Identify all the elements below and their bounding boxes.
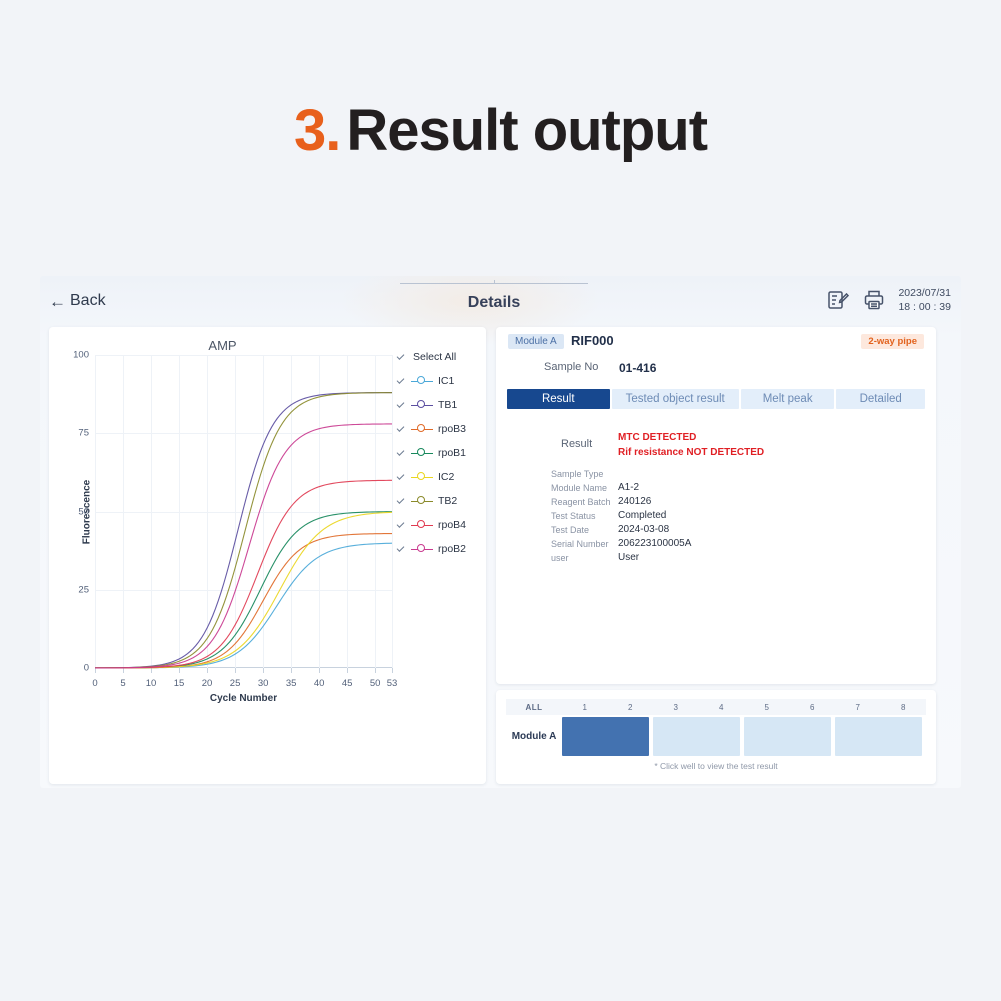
wells-column-header: 1	[562, 703, 608, 712]
gridline-vertical	[392, 355, 393, 668]
wells-column-header: 8	[881, 703, 927, 712]
result-value: MTC DETECTED Rif resistance NOT DETECTED	[618, 430, 764, 460]
tab-details[interactable]: Details	[400, 283, 588, 321]
metadata-row: Test StatusCompleted	[496, 511, 936, 525]
legend-item-rpoB2[interactable]: rpoB2	[397, 537, 483, 561]
legend-marker-icon	[411, 496, 433, 507]
datetime-display: 2023/07/31 18 : 00 : 39	[898, 286, 951, 314]
metadata-value: 2024-03-08	[618, 524, 669, 535]
result-line-2: Rif resistance NOT DETECTED	[618, 445, 764, 460]
checkmark-icon	[397, 521, 406, 530]
metadata-key: Reagent Batch	[551, 497, 611, 507]
x-axis-title: Cycle Number	[95, 693, 392, 704]
x-axis-tick-label: 45	[342, 678, 353, 689]
module-badge: Module A	[508, 334, 564, 349]
x-axis-tick-label: 35	[286, 678, 297, 689]
wells-column-header: 7	[835, 703, 881, 712]
legend-item-label: rpoB4	[438, 519, 466, 531]
checkmark-icon	[397, 545, 406, 554]
result-label: Result	[561, 438, 592, 450]
metadata-value: Completed	[618, 510, 666, 521]
result-line-1: MTC DETECTED	[618, 430, 764, 445]
metadata-key: Sample Type	[551, 469, 603, 479]
result-tab-melt-peak[interactable]: Melt peak	[741, 389, 835, 409]
page-title-number: 3.	[294, 98, 340, 163]
metadata-key: Test Date	[551, 525, 589, 535]
well-3-4[interactable]	[653, 717, 740, 756]
y-axis-tick-label: 25	[78, 584, 89, 595]
legend-marker-icon	[411, 424, 433, 435]
legend-item-label: TB2	[438, 495, 457, 507]
chart-title: AMP	[49, 338, 396, 353]
legend-item-IC1[interactable]: IC1	[397, 369, 483, 393]
legend-item-label: rpoB1	[438, 447, 466, 459]
legend-marker-icon	[411, 544, 433, 555]
well-7-8[interactable]	[835, 717, 922, 756]
result-tab-result[interactable]: Result	[507, 389, 610, 409]
metadata-value: 240126	[618, 496, 651, 507]
app-topbar: ← Back Details	[40, 276, 961, 325]
metadata-row: Serial Number206223100005A	[496, 539, 936, 553]
x-axis-tick-label: 25	[230, 678, 241, 689]
legend-item-label: IC2	[438, 471, 454, 483]
pipe-badge: 2-way pipe	[861, 334, 924, 349]
wells-all-label: ALL	[506, 703, 562, 712]
legend-item-rpoB1[interactable]: rpoB1	[397, 441, 483, 465]
edit-note-icon[interactable]	[826, 288, 850, 312]
wells-row-label: Module A	[506, 731, 562, 742]
amp-curve-IC1	[95, 543, 392, 668]
chart-legend: Select All IC1TB1rpoB3rpoB1IC2TB2rpoB4rp…	[397, 345, 483, 561]
metadata-key: Test Status	[551, 511, 596, 521]
date-text: 2023/07/31	[898, 286, 951, 300]
amp-curve-rpoB2	[95, 424, 392, 668]
metadata-value: 206223100005A	[618, 538, 691, 549]
x-axis-tick-label: 5	[120, 678, 125, 689]
x-axis-tick-label: 20	[202, 678, 213, 689]
metadata-key: Serial Number	[551, 539, 609, 549]
checkmark-icon	[397, 449, 406, 458]
legend-item-rpoB4[interactable]: rpoB4	[397, 513, 483, 537]
metadata-value: A1-2	[618, 482, 639, 493]
checkmark-icon	[397, 401, 406, 410]
back-arrow-icon: ←	[49, 293, 66, 310]
tab-underline	[400, 283, 588, 284]
wells-column-header: 3	[653, 703, 699, 712]
sample-no-value: 01-416	[619, 361, 656, 375]
legend-select-all-label: Select All	[413, 351, 456, 363]
legend-item-TB1[interactable]: TB1	[397, 393, 483, 417]
legend-marker-icon	[411, 376, 433, 387]
result-tab-bar: ResultTested object resultMelt peakDetai…	[507, 389, 925, 409]
page-title-text: Result output	[346, 98, 707, 163]
wells-column-header: 5	[744, 703, 790, 712]
x-axis-tick-label: 0	[92, 678, 97, 689]
metadata-key: Module Name	[551, 483, 607, 493]
result-card: Module A RIF000 2-way pipe Sample No 01-…	[496, 327, 936, 684]
legend-item-label: rpoB3	[438, 423, 466, 435]
wells-column-header: 4	[699, 703, 745, 712]
wells-column-header: 2	[608, 703, 654, 712]
checkmark-icon	[397, 473, 406, 482]
tab-details-label: Details	[400, 294, 588, 312]
wells-note: * Click well to view the test result	[496, 761, 936, 771]
legend-marker-icon	[411, 520, 433, 531]
legend-item-IC2[interactable]: IC2	[397, 465, 483, 489]
legend-marker-icon	[411, 400, 433, 411]
printer-icon[interactable]	[862, 288, 886, 312]
metadata-row: userUser	[496, 553, 936, 567]
wells-column-header: 6	[790, 703, 836, 712]
result-tab-detailed[interactable]: Detailed	[836, 389, 925, 409]
legend-select-all[interactable]: Select All	[397, 345, 483, 369]
metadata-value: User	[618, 552, 639, 563]
y-axis-tick-label: 75	[78, 428, 89, 439]
wells-card: ALL 12345678 Module A * Click well to vi…	[496, 690, 936, 784]
result-metadata-list: Sample TypeModule NameA1-2Reagent Batch2…	[496, 469, 936, 567]
legend-item-label: TB1	[438, 399, 457, 411]
legend-item-TB2[interactable]: TB2	[397, 489, 483, 513]
amp-curves	[95, 355, 392, 670]
result-card-header: Module A RIF000 2-way pipe	[496, 327, 936, 355]
checkmark-icon	[397, 497, 406, 506]
well-1-2[interactable]	[562, 717, 649, 756]
checkmark-icon	[397, 425, 406, 434]
checkmark-icon	[397, 353, 406, 362]
sample-no-row: Sample No 01-416	[496, 361, 936, 379]
x-axis-tick-label: 15	[174, 678, 185, 689]
page-title: 3.Result output	[0, 97, 1001, 164]
y-axis-tick-label: 0	[84, 663, 89, 674]
amp-chart-card: AMP Cycle Number Fluorescence 0510152025…	[49, 327, 486, 784]
wells-module-row: Module A	[506, 715, 926, 758]
metadata-row: Module NameA1-2	[496, 483, 936, 497]
metadata-row: Test Date2024-03-08	[496, 525, 936, 539]
x-axis-tick-label: 10	[146, 678, 157, 689]
checkmark-icon	[397, 377, 406, 386]
legend-item-rpoB3[interactable]: rpoB3	[397, 417, 483, 441]
metadata-row: Reagent Batch240126	[496, 497, 936, 511]
result-tab-tested-object-result[interactable]: Tested object result	[612, 389, 739, 409]
x-axis-tick-label: 30	[258, 678, 269, 689]
x-axis-tick-label: 40	[314, 678, 325, 689]
y-axis-tick-label: 50	[78, 506, 89, 517]
amp-chart-plot: Cycle Number Fluorescence 05101520253035…	[95, 355, 392, 668]
metadata-key: user	[551, 553, 569, 563]
legend-item-label: rpoB2	[438, 543, 466, 555]
x-axis-tick-label: 53	[387, 678, 398, 689]
legend-marker-icon	[411, 448, 433, 459]
legend-item-label: IC1	[438, 375, 454, 387]
legend-marker-icon	[411, 472, 433, 483]
amp-curve-TB1	[95, 393, 392, 668]
time-text: 18 : 00 : 39	[898, 300, 951, 314]
well-5-6[interactable]	[744, 717, 831, 756]
topbar-actions: 2023/07/31 18 : 00 : 39	[826, 286, 951, 314]
wells-grid: ALL 12345678 Module A	[506, 699, 926, 758]
wells-header-row: ALL 12345678	[506, 699, 926, 715]
metadata-row: Sample Type	[496, 469, 936, 483]
x-axis-tick-label: 50	[370, 678, 381, 689]
back-label: Back	[70, 292, 106, 310]
sample-no-label: Sample No	[544, 361, 598, 373]
y-axis-tick-label: 100	[73, 350, 89, 361]
app-window: ← Back Details	[40, 276, 961, 788]
assay-name: RIF000	[571, 333, 614, 348]
amp-curve-TB2	[95, 393, 392, 668]
x-axis-tick	[392, 668, 393, 673]
back-button[interactable]: ← Back	[49, 292, 106, 310]
